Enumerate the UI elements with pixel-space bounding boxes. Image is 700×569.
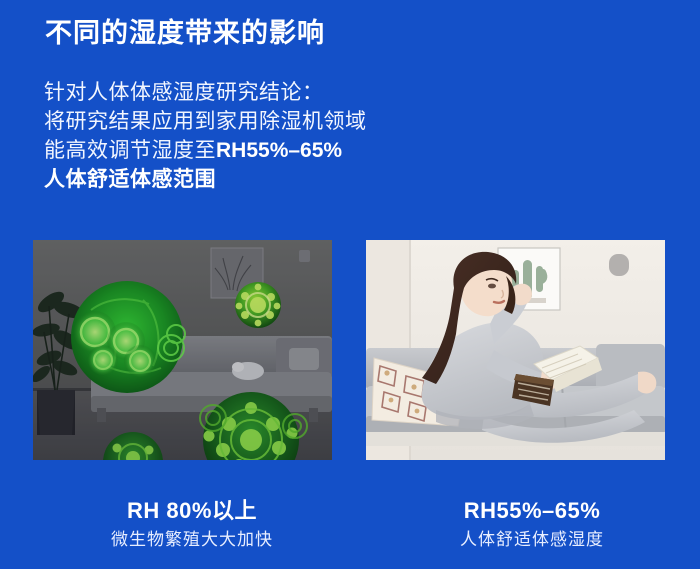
- caption-sub-right: 人体舒适体感湿度: [382, 528, 682, 551]
- woman-reading-illustration: [366, 240, 665, 460]
- body-copy-line-2: 将研究结果应用到家用除湿机领域: [44, 107, 367, 136]
- caption-high-humidity: RH 80%以上 微生物繁殖大大加快: [42, 497, 342, 551]
- body-copy-line-3: 能高效调节湿度至RH55%–65%: [44, 136, 367, 165]
- photo-comfort-humidity: [366, 240, 665, 460]
- microbe-room-illustration: [33, 240, 332, 460]
- caption-comfort-humidity: RH55%–65% 人体舒适体感湿度: [382, 497, 682, 551]
- caption-title-right: RH55%–65%: [382, 497, 682, 525]
- page-title: 不同的湿度带来的影响: [45, 17, 325, 51]
- caption-sub-left: 微生物繁殖大大加快: [42, 528, 342, 551]
- body-copy: 针对人体体感湿度研究结论： 将研究结果应用到家用除湿机领域 能高效调节湿度至RH…: [44, 78, 367, 194]
- caption-title-left: RH 80%以上: [42, 497, 342, 525]
- body-copy-line-4: 人体舒适体感范围: [44, 165, 367, 194]
- photo-high-humidity: [33, 240, 332, 460]
- poster-root: 不同的湿度带来的影响 针对人体体感湿度研究结论： 将研究结果应用到家用除湿机领域…: [0, 0, 700, 569]
- body-copy-line-3-prefix: 能高效调节湿度至: [44, 139, 216, 162]
- body-copy-line-1: 针对人体体感湿度研究结论：: [44, 78, 367, 107]
- humidity-range-highlight: RH55%–65%: [216, 139, 342, 162]
